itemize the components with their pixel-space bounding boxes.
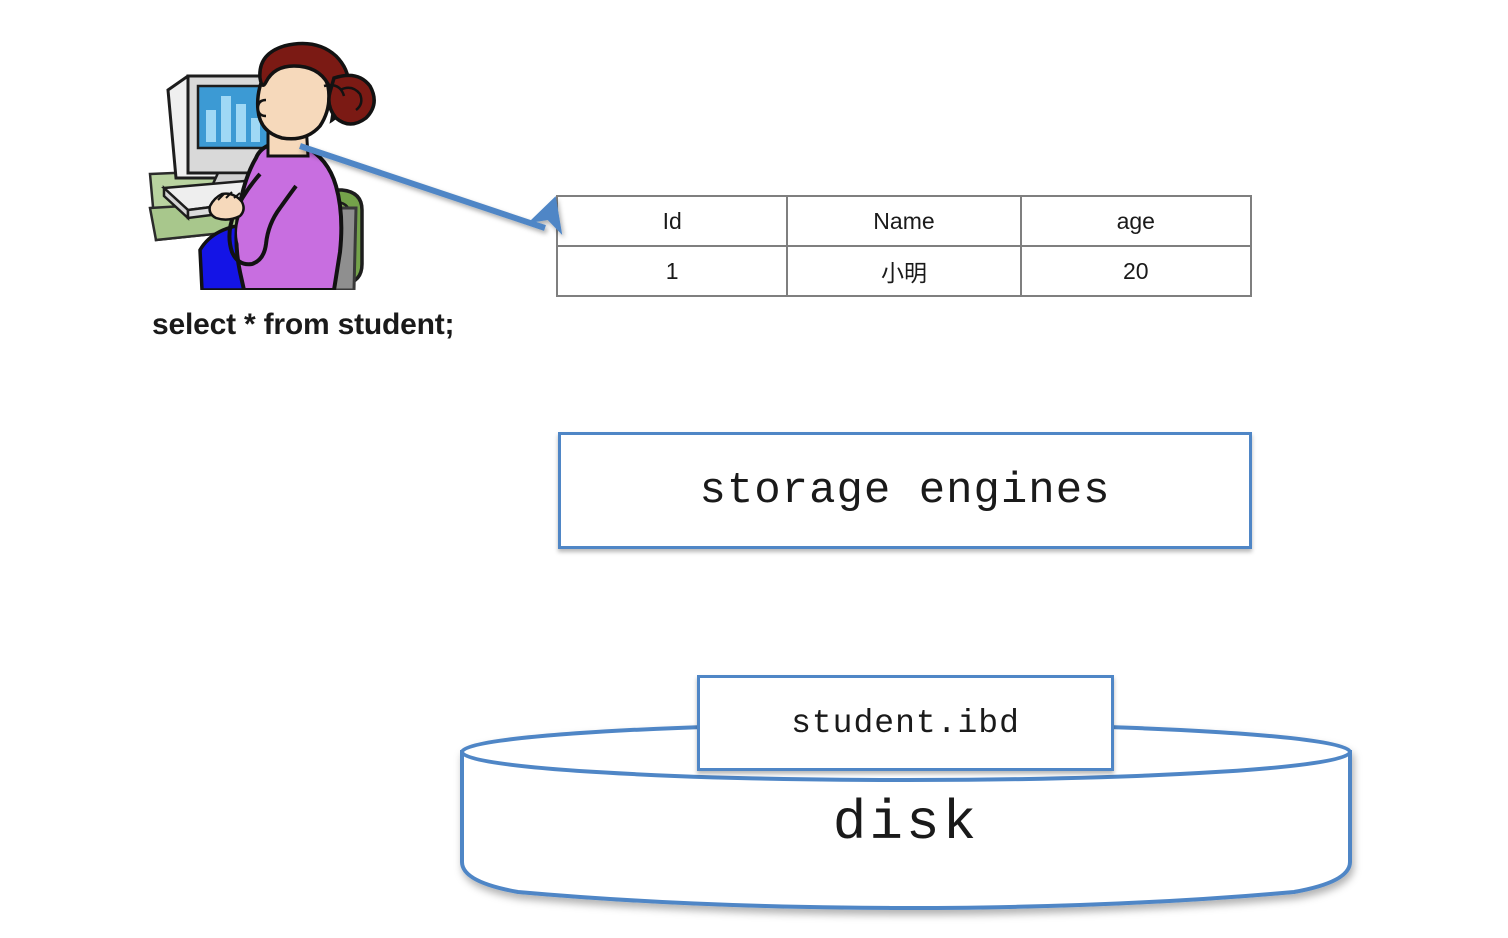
person-at-computer-clipart xyxy=(148,38,396,290)
storage-engines-box[interactable]: storage engines xyxy=(558,432,1252,549)
query-result-table: Id Name age 1 小明 20 xyxy=(556,195,1252,297)
storage-engines-label: storage engines xyxy=(699,466,1110,516)
student-ibd-label: student.ibd xyxy=(791,705,1020,742)
table-header-age: age xyxy=(1021,196,1251,246)
table-header-row: Id Name age xyxy=(557,196,1251,246)
sql-query-caption: select * from student; xyxy=(152,308,454,342)
table-cell-id: 1 xyxy=(557,246,787,296)
diagram-canvas: select * from student; Id xyxy=(0,0,1508,938)
table-header-name: Name xyxy=(787,196,1020,246)
table-row: 1 小明 20 xyxy=(557,246,1251,296)
table-header-id: Id xyxy=(557,196,787,246)
student-ibd-box[interactable]: student.ibd xyxy=(697,675,1114,771)
table-cell-name: 小明 xyxy=(787,246,1020,296)
table-cell-age: 20 xyxy=(1021,246,1251,296)
